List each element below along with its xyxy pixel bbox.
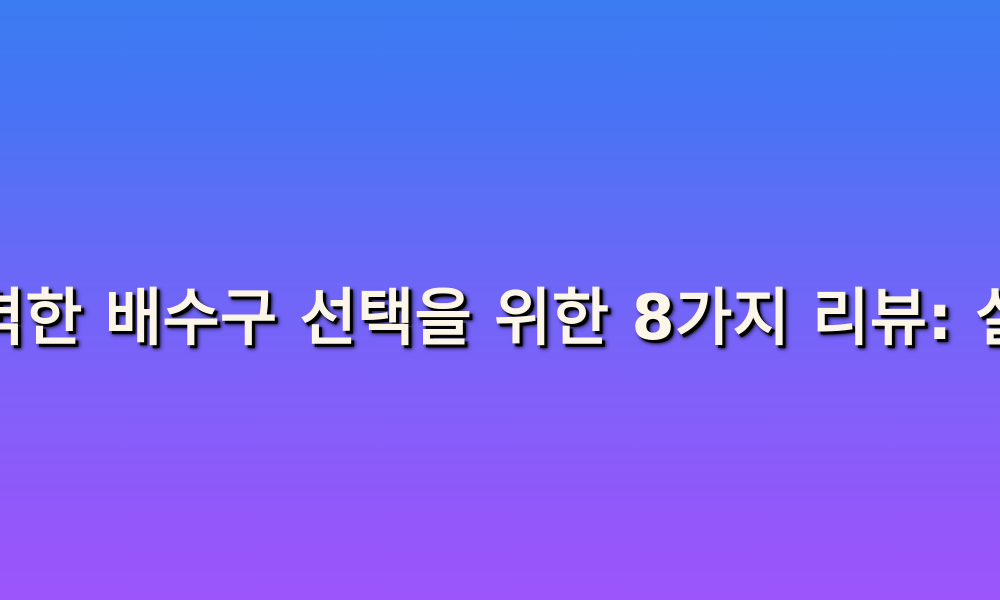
banner-canvas: 벽한 배수구 선택을 위한 8가지 리뷰: 실 [0,0,1000,600]
banner-headline: 벽한 배수구 선택을 위한 8가지 리뷰: 실 [0,285,1000,350]
headline-row: 벽한 배수구 선택을 위한 8가지 리뷰: 실 [0,0,1000,600]
